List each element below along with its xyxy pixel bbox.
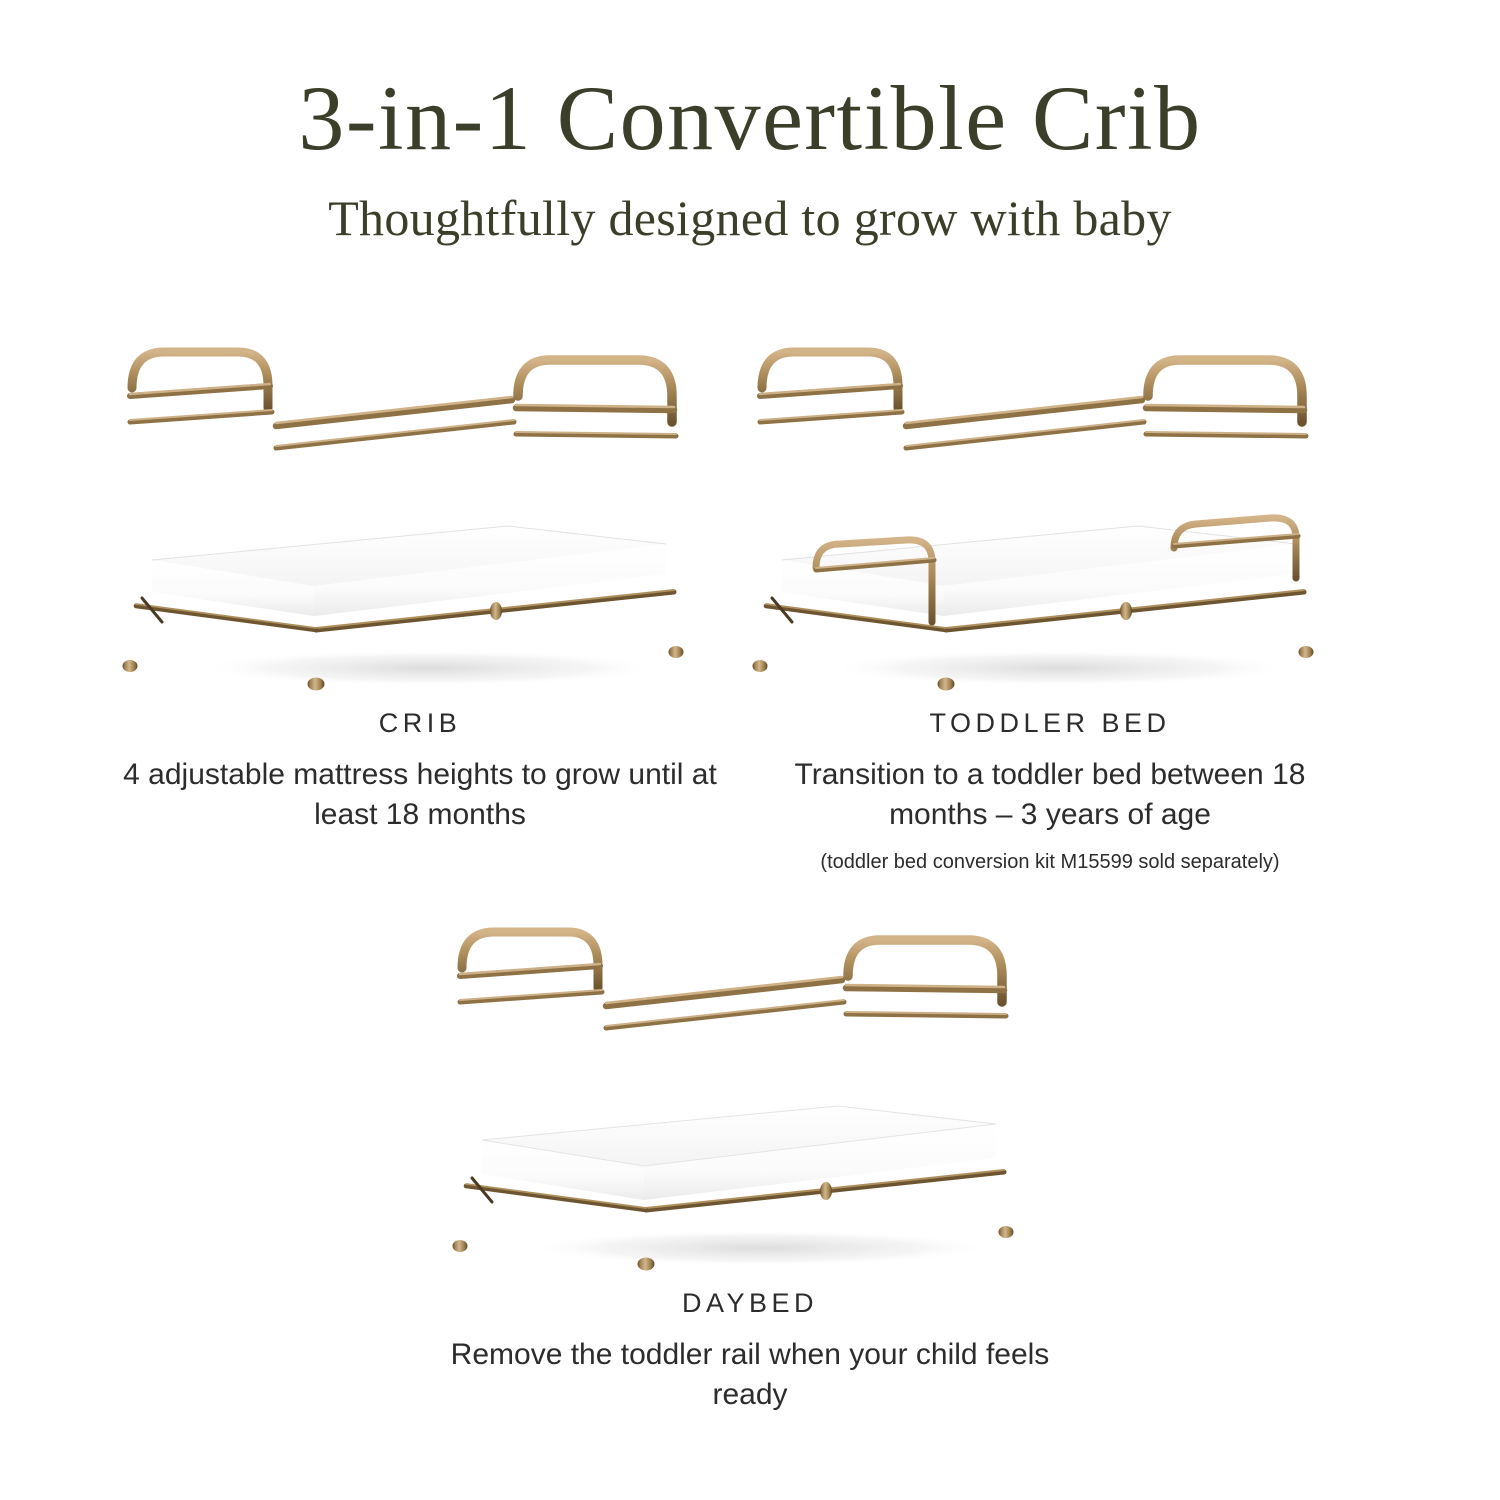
crib-illustration bbox=[100, 330, 740, 700]
header: 3-in-1 Convertible Crib Thoughtfully des… bbox=[0, 0, 1500, 248]
panel-label-toddler-bed: TODDLER BED bbox=[730, 708, 1370, 739]
floor-shadow bbox=[830, 650, 1290, 686]
mattress bbox=[482, 1106, 996, 1200]
daybed-frame bbox=[453, 932, 1014, 1271]
page-subtitle: Thoughtfully designed to grow with baby bbox=[0, 188, 1500, 248]
crib-frame bbox=[123, 352, 684, 691]
product-panel-crib: CRIB 4 adjustable mattress heights to gr… bbox=[100, 330, 740, 835]
daybed-illustration bbox=[430, 910, 1070, 1280]
floor-shadow bbox=[530, 1230, 990, 1266]
floor-shadow bbox=[200, 650, 660, 686]
product-row-bottom: DAYBED Remove the toddler rail when your… bbox=[0, 910, 1500, 1430]
page-title: 3-in-1 Convertible Crib bbox=[0, 72, 1500, 166]
toddler-bed-frame bbox=[753, 352, 1314, 691]
product-panel-toddler-bed: TODDLER BED Transition to a toddler bed … bbox=[730, 330, 1370, 875]
panel-description-crib: 4 adjustable mattress heights to grow un… bbox=[100, 755, 740, 835]
toddler-bed-illustration bbox=[730, 330, 1370, 700]
product-panel-daybed: DAYBED Remove the toddler rail when your… bbox=[430, 910, 1070, 1415]
panel-label-daybed: DAYBED bbox=[430, 1288, 1070, 1319]
panel-note-toddler-bed: (toddler bed conversion kit M15599 sold … bbox=[730, 849, 1370, 875]
panel-label-crib: CRIB bbox=[100, 708, 740, 739]
panel-description-daybed: Remove the toddler rail when your child … bbox=[430, 1335, 1070, 1415]
panel-description-toddler-bed: Transition to a toddler bed between 18 m… bbox=[730, 755, 1370, 835]
product-row-top: CRIB 4 adjustable mattress heights to gr… bbox=[0, 330, 1500, 890]
